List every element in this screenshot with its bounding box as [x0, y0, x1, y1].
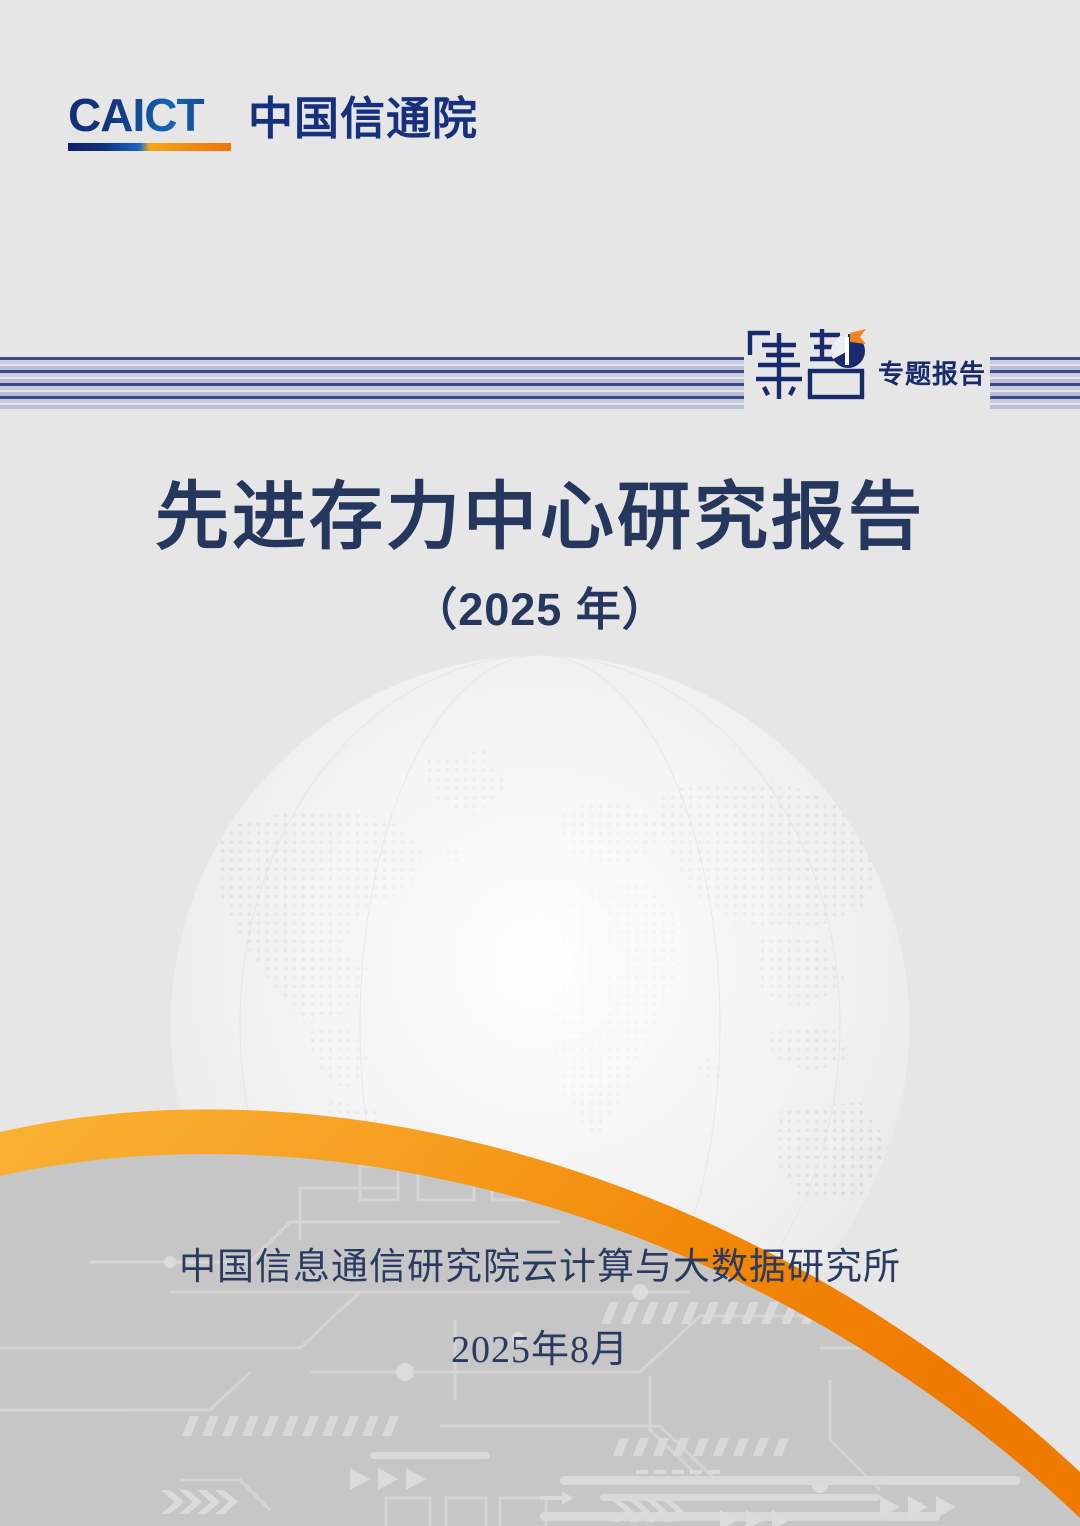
bottom-decoration-panel	[0, 1080, 1080, 1526]
page-subtitle: （2025 年）	[0, 580, 1080, 640]
striped-rule-icon-left	[0, 357, 744, 409]
caict-wordmark-text: CAICT	[68, 92, 231, 138]
series-badge-label: 专题报告	[878, 354, 986, 391]
page-title: 先进存力中心研究报告	[0, 472, 1080, 562]
series-badge: 专题报告	[744, 318, 990, 410]
gradient-rule-icon	[68, 143, 231, 151]
striped-rule-icon-right	[986, 357, 1080, 409]
caict-wordmark: CAICT	[68, 92, 231, 151]
report-cover-page: CAICT 中国信通院	[0, 0, 1080, 1526]
organization-name: 中国信息通信研究院云计算与大数据研究所	[0, 1243, 1080, 1291]
caict-logo: CAICT 中国信通院	[68, 92, 478, 151]
publication-date: 2025年8月	[0, 1325, 1080, 1375]
caict-chinese-name: 中国信通院	[248, 94, 478, 151]
jizhi-emblem-icon	[744, 325, 872, 403]
